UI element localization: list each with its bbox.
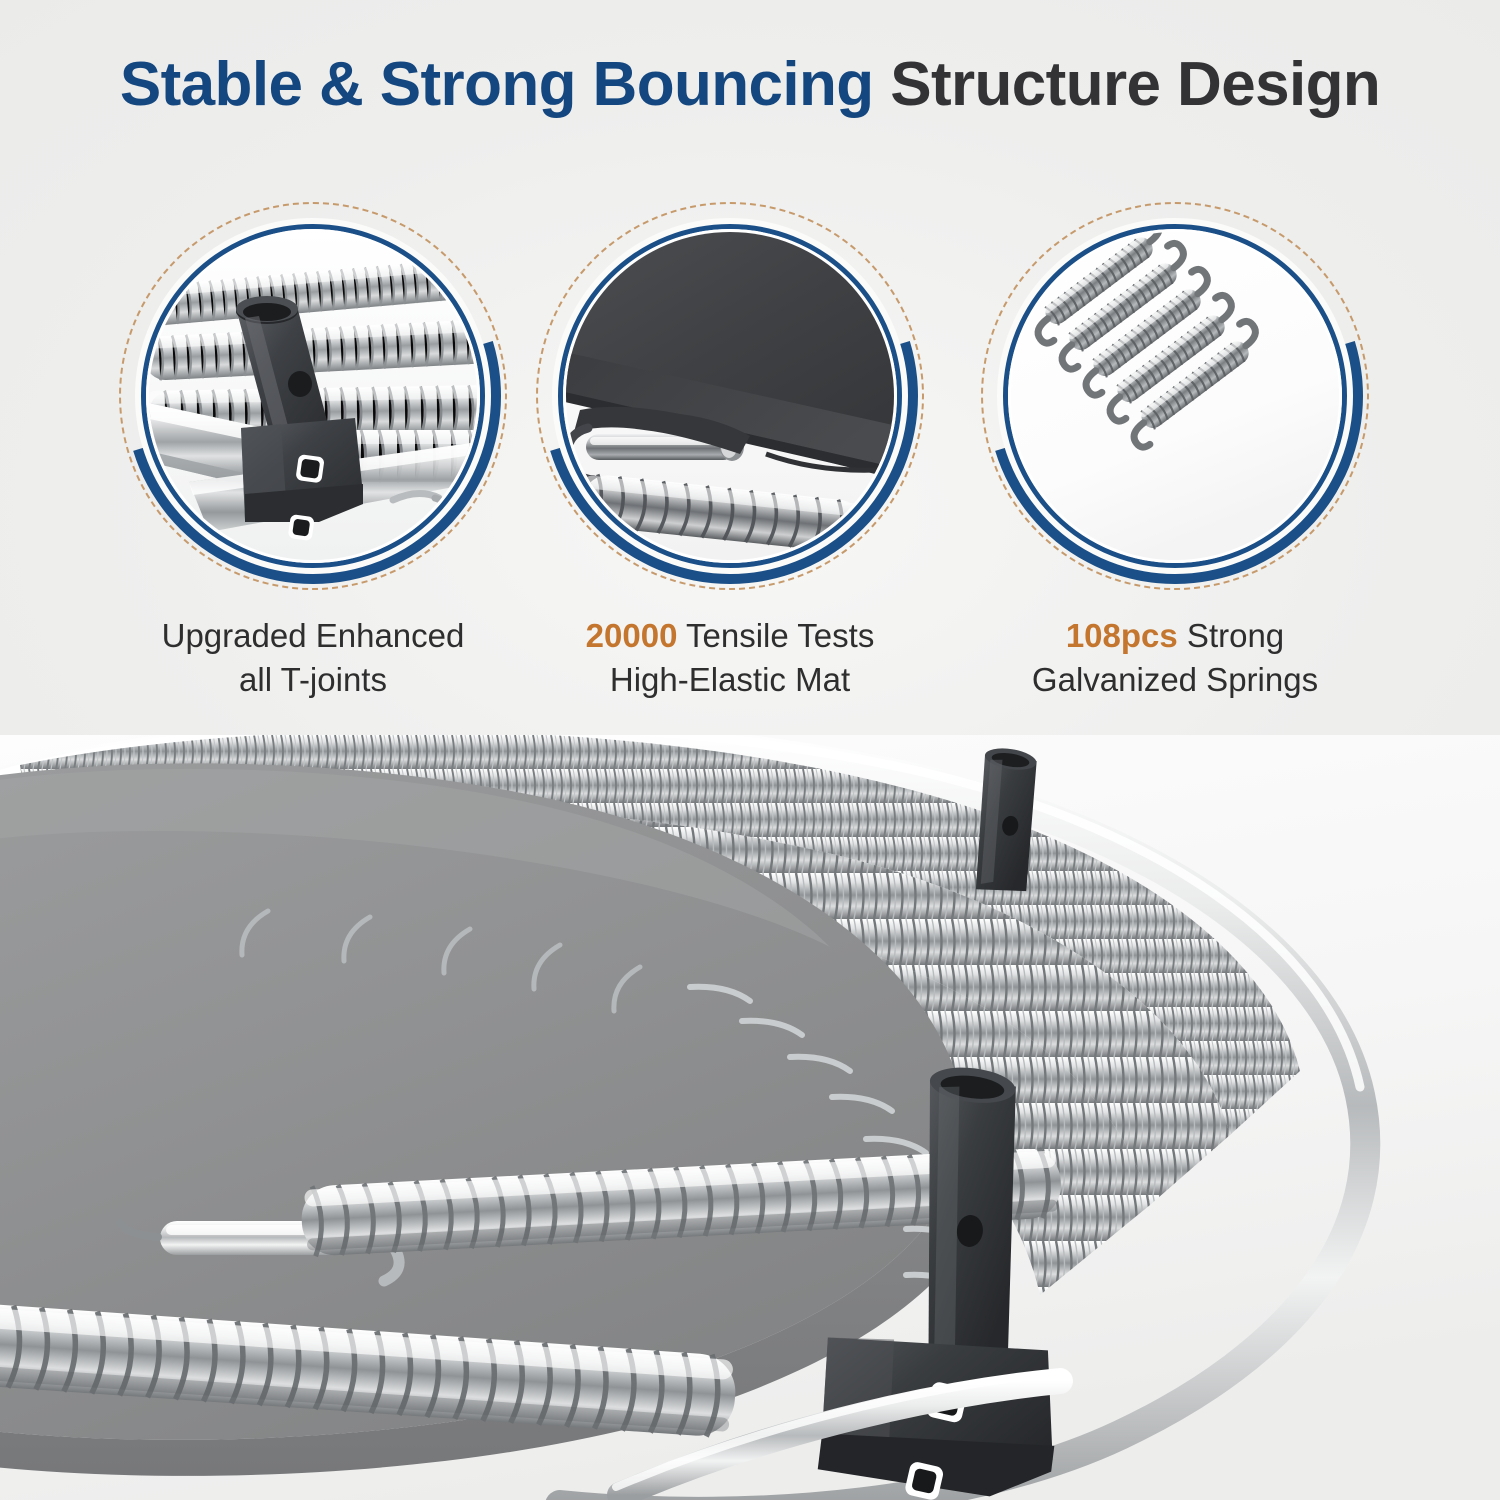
feature-caption-galvanized-springs: 108pcs Strong Galvanized Springs — [955, 614, 1395, 702]
feature-badge-galvanized-springs — [975, 196, 1375, 596]
feature-caption-t-joints: Upgraded Enhanced all T-joints — [93, 614, 533, 702]
feature-badge-tensile-tests — [530, 196, 930, 596]
caption-line2-text: all T-joints — [93, 658, 533, 702]
springs-group-photo — [1011, 232, 1339, 560]
page-title-blue-part: Stable & Strong Bouncing — [120, 50, 874, 119]
caption-line1-text: Upgraded Enhanced — [162, 617, 465, 654]
caption-line1-text: Strong — [1178, 617, 1284, 654]
feature-item-galvanized-springs: 108pcs Strong Galvanized Springs — [955, 196, 1395, 736]
feature-item-tensile-tests: 20000 Tensile Tests High-Elastic Mat — [510, 196, 950, 736]
caption-line1-text: Tensile Tests — [677, 617, 874, 654]
trampoline-frame-springs-photo — [0, 735, 1500, 1500]
caption-line2-text: High-Elastic Mat — [510, 658, 950, 702]
caption-line2-text: Galvanized Springs — [955, 658, 1395, 702]
feature-caption-tensile-tests: 20000 Tensile Tests High-Elastic Mat — [510, 614, 950, 702]
caption-accent-number: 20000 — [586, 617, 678, 654]
product-feature-page: Stable & Strong Bouncing Structure Desig… — [0, 0, 1500, 1500]
page-title: Stable & Strong Bouncing Structure Desig… — [0, 52, 1500, 117]
page-title-dark-part: Structure Design — [874, 50, 1381, 119]
caption-accent-number: 108pcs — [1066, 617, 1178, 654]
feature-badge-t-joints — [113, 196, 513, 596]
mat-edge-closeup-photo — [566, 232, 894, 560]
feature-row: Upgraded Enhanced all T-joints — [0, 196, 1500, 736]
feature-item-t-joints: Upgraded Enhanced all T-joints — [93, 196, 533, 736]
tjoint-closeup-photo — [149, 232, 477, 560]
